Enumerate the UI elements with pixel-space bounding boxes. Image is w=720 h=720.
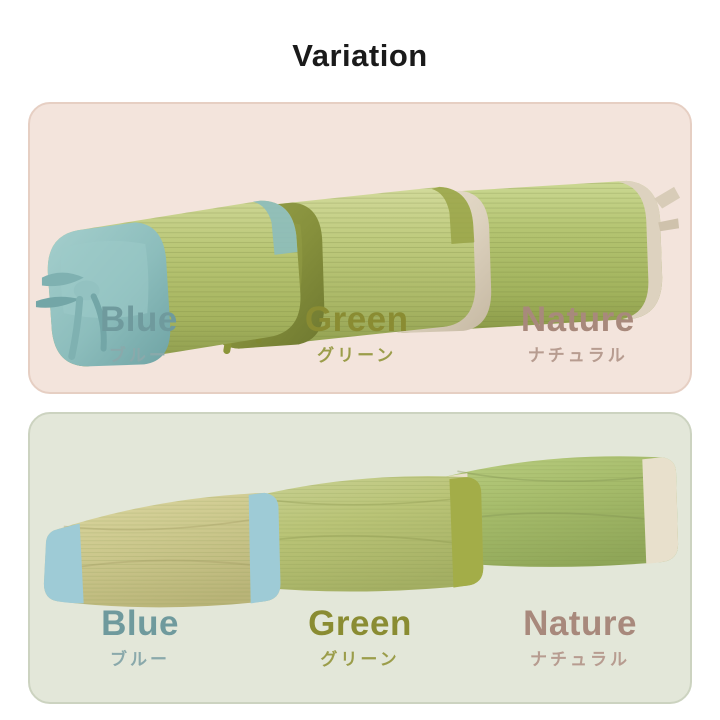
- page-title: Variation: [0, 38, 720, 74]
- flat-pillow-blue: [44, 493, 281, 607]
- variation-panel-bolster: Blue ブルー Green グリーン Nature ナチュラル: [28, 102, 692, 394]
- bolster-pillow-photo: [30, 104, 690, 392]
- variation-panel-flat: Blue ブルー Green グリーン Nature ナチュラル: [28, 412, 692, 704]
- flat-pillow-photo: [30, 414, 690, 702]
